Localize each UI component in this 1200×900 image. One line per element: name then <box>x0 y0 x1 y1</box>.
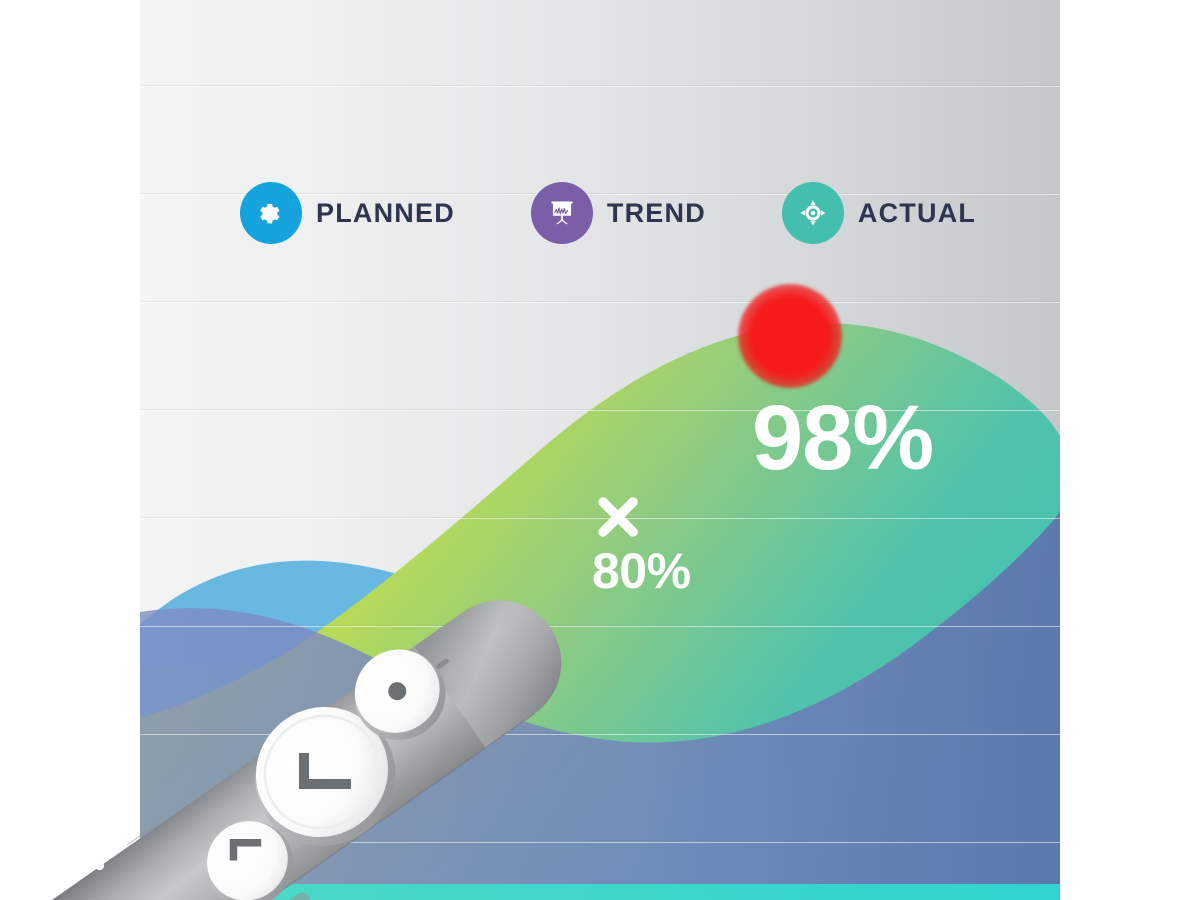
callout-planned-value: 80% <box>592 546 691 596</box>
legend-label-planned: PLANNED <box>316 198 455 229</box>
gear-icon <box>240 182 302 244</box>
x-cross-marker <box>596 495 640 539</box>
legend-item-actual[interactable]: ACTUAL <box>782 182 976 244</box>
crosshair-target-icon <box>782 182 844 244</box>
red-laser-dot <box>738 284 842 388</box>
screenshot-root: PLANNED TREND <box>0 0 1200 900</box>
callout-actual-value: 98% <box>752 392 933 484</box>
legend-label-trend: TREND <box>607 198 706 229</box>
legend-item-planned[interactable]: PLANNED <box>240 182 455 244</box>
legend-label-actual: ACTUAL <box>858 198 976 229</box>
orientation-tick <box>91 848 105 871</box>
callout-planned-group: 80% <box>592 495 691 596</box>
legend-item-trend[interactable]: TREND <box>531 182 706 244</box>
presentation-chart-icon <box>531 182 593 244</box>
chart-legend: PLANNED TREND <box>240 182 976 244</box>
